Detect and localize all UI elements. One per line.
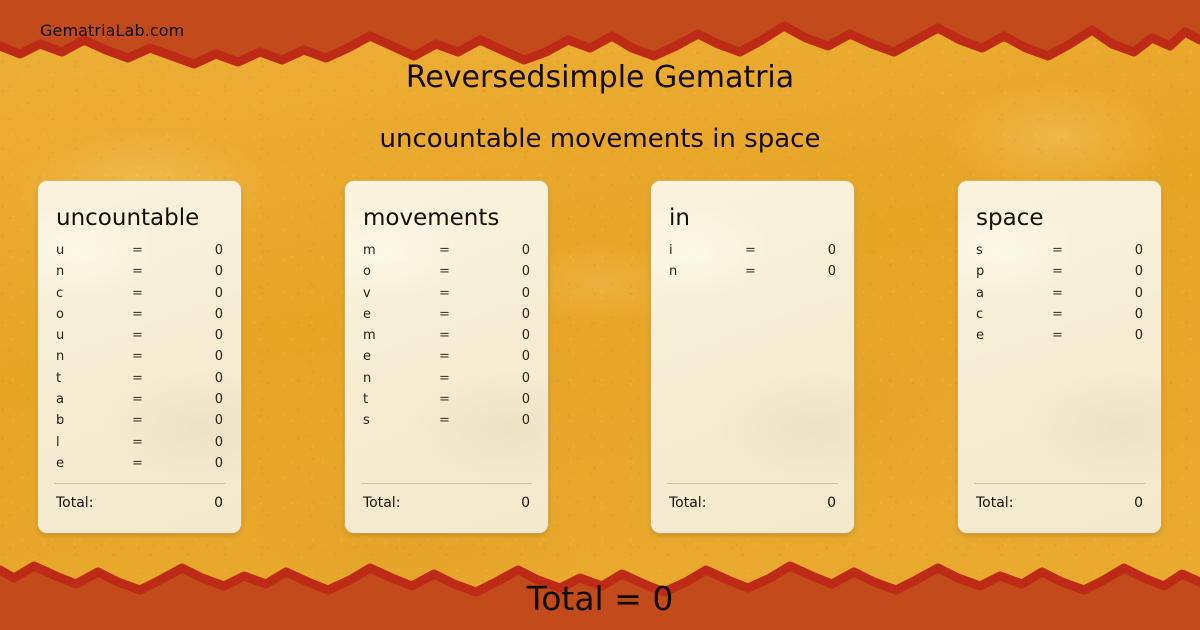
letter-row: v=0: [361, 286, 532, 307]
letter-char: e: [976, 328, 984, 343]
word-total: Total: 0: [974, 483, 1145, 515]
analyzed-phrase: uncountable movements in space: [0, 118, 1200, 160]
letter-char: v: [363, 286, 371, 301]
equals-sign: =: [439, 349, 450, 364]
equals-sign: =: [132, 349, 143, 364]
total-row: Total: 0: [361, 495, 532, 515]
site-watermark: GematriaLab.com: [40, 21, 184, 40]
equals-sign: =: [439, 307, 450, 322]
letter-row: c=0: [974, 307, 1145, 328]
letter-row: u=0: [54, 243, 225, 264]
total-label: Total:: [669, 495, 706, 511]
equals-sign: =: [132, 392, 143, 407]
letter-value: 0: [1135, 307, 1143, 322]
letter-row: e=0: [361, 307, 532, 328]
equals-sign: =: [1052, 307, 1063, 322]
equals-sign: =: [132, 413, 143, 428]
total-label: Total:: [976, 495, 1013, 511]
letter-value: 0: [215, 243, 223, 258]
letter-row: i=0: [667, 243, 838, 264]
word-card-title: uncountable: [56, 203, 225, 241]
letter-row: c=0: [54, 286, 225, 307]
letter-char: e: [56, 456, 64, 471]
letter-value-list: s=0 p=0 a=0 c=0 e=0: [974, 243, 1145, 349]
letter-value-list: m=0 o=0 v=0 e=0 m=0 e=0 n=0 t=0 s=0: [361, 243, 532, 435]
gematria-result-page: GematriaLab.com Reversedsimple Gematria …: [0, 0, 1200, 630]
total-value: 0: [521, 495, 530, 511]
letter-value: 0: [1135, 243, 1143, 258]
letter-row: e=0: [974, 328, 1145, 349]
letter-row: n=0: [361, 371, 532, 392]
letter-value: 0: [522, 328, 530, 343]
letter-row: s=0: [361, 413, 532, 434]
total-label: Total:: [56, 495, 93, 511]
equals-sign: =: [132, 243, 143, 258]
letter-value: 0: [522, 286, 530, 301]
letter-char: c: [56, 286, 63, 301]
letter-row: u=0: [54, 328, 225, 349]
letter-char: o: [56, 307, 64, 322]
letter-char: t: [363, 392, 368, 407]
letter-char: m: [363, 328, 376, 343]
letter-row: b=0: [54, 413, 225, 434]
letter-row: l=0: [54, 435, 225, 456]
letter-row: n=0: [667, 264, 838, 285]
equals-sign: =: [439, 243, 450, 258]
equals-sign: =: [132, 307, 143, 322]
letter-value: 0: [828, 243, 836, 258]
equals-sign: =: [439, 413, 450, 428]
word-total: Total: 0: [667, 483, 838, 515]
letter-row: m=0: [361, 243, 532, 264]
letter-value: 0: [1135, 286, 1143, 301]
letter-row: o=0: [361, 264, 532, 285]
letter-value: 0: [215, 456, 223, 471]
letter-char: m: [363, 243, 376, 258]
equals-sign: =: [439, 286, 450, 301]
letter-value: 0: [522, 392, 530, 407]
letter-value: 0: [215, 349, 223, 364]
letter-char: a: [976, 286, 984, 301]
letter-value: 0: [522, 413, 530, 428]
letter-char: n: [56, 349, 64, 364]
equals-sign: =: [132, 264, 143, 279]
letter-char: n: [363, 371, 371, 386]
letter-value: 0: [522, 243, 530, 258]
word-card: in i=0 n=0 Total: 0: [651, 181, 854, 533]
letter-char: t: [56, 371, 61, 386]
equals-sign: =: [132, 286, 143, 301]
total-row: Total: 0: [54, 495, 225, 515]
letter-char: c: [976, 307, 983, 322]
equals-sign: =: [745, 243, 756, 258]
letter-row: n=0: [54, 264, 225, 285]
page-title: Reversedsimple Gematria: [0, 56, 1200, 100]
letter-value: 0: [215, 435, 223, 450]
equals-sign: =: [132, 435, 143, 450]
letter-value: 0: [215, 307, 223, 322]
total-divider: [54, 483, 225, 484]
letter-char: a: [56, 392, 64, 407]
total-divider: [974, 483, 1145, 484]
letter-value: 0: [215, 286, 223, 301]
letter-row: p=0: [974, 264, 1145, 285]
equals-sign: =: [132, 371, 143, 386]
grand-total: Total = 0: [0, 579, 1200, 618]
letter-value: 0: [522, 307, 530, 322]
equals-sign: =: [439, 264, 450, 279]
page-header: Reversedsimple Gematria uncountable move…: [0, 56, 1200, 160]
letter-value: 0: [522, 349, 530, 364]
total-divider: [667, 483, 838, 484]
equals-sign: =: [1052, 264, 1063, 279]
letter-value: 0: [522, 264, 530, 279]
word-card: space s=0 p=0 a=0 c=0 e=0 Total: 0: [958, 181, 1161, 533]
word-total: Total: 0: [361, 483, 532, 515]
letter-char: u: [56, 328, 64, 343]
letter-char: s: [363, 413, 370, 428]
letter-value: 0: [1135, 264, 1143, 279]
letter-value: 0: [215, 264, 223, 279]
word-card-title: movements: [363, 203, 532, 241]
letter-row: t=0: [54, 371, 225, 392]
letter-value: 0: [215, 392, 223, 407]
letter-value: 0: [215, 413, 223, 428]
word-card: uncountable u=0 n=0 c=0 o=0 u=0 n=0 t=0 …: [38, 181, 241, 533]
total-value: 0: [214, 495, 223, 511]
total-row: Total: 0: [974, 495, 1145, 515]
letter-char: n: [669, 264, 677, 279]
letter-char: e: [363, 307, 371, 322]
letter-char: p: [976, 264, 984, 279]
total-row: Total: 0: [667, 495, 838, 515]
letter-row: n=0: [54, 349, 225, 370]
word-card: movements m=0 o=0 v=0 e=0 m=0 e=0 n=0 t=…: [345, 181, 548, 533]
letter-row: e=0: [361, 349, 532, 370]
letter-row: a=0: [54, 392, 225, 413]
letter-char: b: [56, 413, 64, 428]
letter-value: 0: [215, 328, 223, 343]
equals-sign: =: [439, 328, 450, 343]
letter-value-list: i=0 n=0: [667, 243, 838, 286]
equals-sign: =: [745, 264, 756, 279]
equals-sign: =: [1052, 286, 1063, 301]
letter-value: 0: [215, 371, 223, 386]
total-label: Total:: [363, 495, 400, 511]
word-total: Total: 0: [54, 483, 225, 515]
total-value: 0: [827, 495, 836, 511]
letter-value: 0: [828, 264, 836, 279]
letter-char: l: [56, 435, 60, 450]
equals-sign: =: [132, 328, 143, 343]
equals-sign: =: [1052, 328, 1063, 343]
letter-char: o: [363, 264, 371, 279]
equals-sign: =: [132, 456, 143, 471]
letter-row: m=0: [361, 328, 532, 349]
letter-char: i: [669, 243, 673, 258]
word-card-title: in: [669, 203, 838, 241]
letter-value: 0: [1135, 328, 1143, 343]
letter-row: o=0: [54, 307, 225, 328]
word-card-title: space: [976, 203, 1145, 241]
equals-sign: =: [1052, 243, 1063, 258]
letter-char: n: [56, 264, 64, 279]
letter-char: u: [56, 243, 64, 258]
letter-row: a=0: [974, 286, 1145, 307]
letter-char: s: [976, 243, 983, 258]
letter-value: 0: [522, 371, 530, 386]
letter-row: s=0: [974, 243, 1145, 264]
word-cards-container: uncountable u=0 n=0 c=0 o=0 u=0 n=0 t=0 …: [38, 181, 1162, 533]
letter-row: e=0: [54, 456, 225, 477]
letter-char: e: [363, 349, 371, 364]
equals-sign: =: [439, 392, 450, 407]
equals-sign: =: [439, 371, 450, 386]
letter-value-list: u=0 n=0 c=0 o=0 u=0 n=0 t=0 a=0 b=0 l=0 …: [54, 243, 225, 477]
letter-row: t=0: [361, 392, 532, 413]
total-value: 0: [1134, 495, 1143, 511]
total-divider: [361, 483, 532, 484]
